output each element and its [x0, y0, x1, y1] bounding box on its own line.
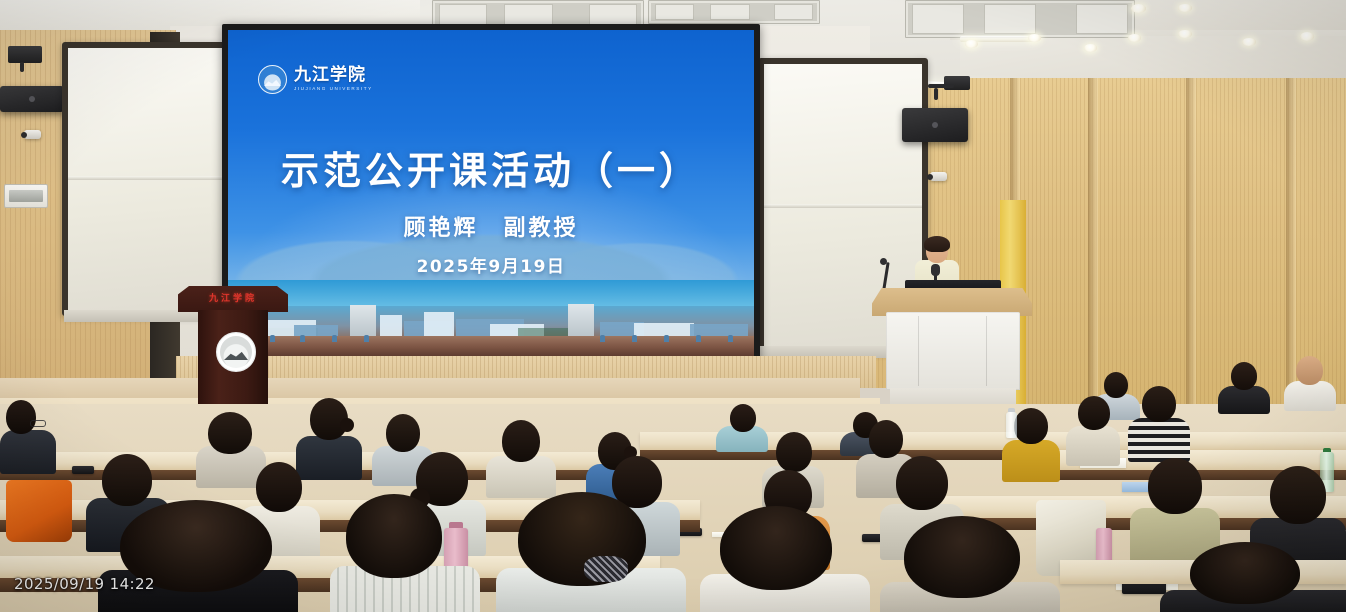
wall-camera-left — [24, 130, 41, 139]
audience-member-r2-a — [0, 400, 56, 472]
ceiling-air-vent-center — [648, 0, 820, 24]
ceiling-tilt-right — [960, 36, 1346, 82]
head — [502, 420, 540, 462]
campus-building-5 — [424, 312, 454, 336]
wall-speaker-arm-right — [928, 84, 954, 88]
audience-member-r2-j — [1066, 396, 1120, 462]
handbag-orange[interactable] — [6, 480, 72, 542]
campus-building-3 — [380, 315, 402, 336]
wall-speaker-drop-right — [934, 88, 938, 100]
head — [776, 432, 812, 472]
wall-control-panel[interactable] — [4, 184, 48, 208]
hair-scrunchie — [584, 556, 628, 582]
ceiling-downlight-3 — [1084, 44, 1097, 52]
audience-member-r2-e — [486, 420, 556, 492]
audience-member-r4-a — [98, 500, 298, 612]
podium[interactable]: 九江学院 — [178, 286, 288, 418]
ceiling-downlight-4 — [1131, 4, 1146, 13]
head — [720, 506, 832, 590]
head — [1231, 362, 1257, 390]
audience-member-r1-a — [716, 404, 768, 448]
podium-label: 九江学院 — [178, 291, 288, 304]
torso — [1218, 386, 1270, 414]
water-bottle-1[interactable] — [1006, 412, 1017, 438]
campus-trees-right — [518, 328, 568, 336]
head — [896, 456, 948, 510]
whiteboard-rail-left — [68, 176, 230, 180]
head — [1270, 466, 1326, 524]
campus-tower-left — [350, 305, 376, 338]
slide-logo-cn: 九江学院 — [294, 67, 373, 84]
ceiling-downlight-8 — [1300, 32, 1314, 41]
glasses-icon — [30, 420, 46, 427]
lecture-hall-photo: 九江学院 JIUJIANG UNIVERSITY 示范公开课活动（一） 顾艳辉 … — [0, 0, 1346, 612]
head — [208, 412, 252, 454]
head — [1104, 372, 1128, 398]
torso — [0, 430, 56, 474]
campus-plaza — [228, 336, 754, 356]
head — [904, 516, 1020, 598]
wall-column-3 — [1186, 78, 1196, 408]
ceiling-air-vent-right — [905, 0, 1135, 38]
photo-timestamp: 2025/09/19 14:22 — [14, 575, 155, 593]
head — [1148, 458, 1202, 514]
lectern-body — [886, 312, 1020, 390]
audience-member-r4-f — [1160, 542, 1346, 612]
head — [1296, 356, 1323, 385]
head — [1190, 542, 1300, 604]
university-seal-icon — [258, 65, 287, 94]
wall-speaker-right — [902, 108, 968, 142]
torso — [1002, 440, 1060, 482]
audience-member-r2-k — [1128, 386, 1190, 458]
audience-member-r4-d — [700, 506, 870, 612]
projection-screen[interactable]: 九江学院 JIUJIANG UNIVERSITY 示范公开课活动（一） 顾艳辉 … — [228, 30, 754, 356]
ceiling-downlight-2 — [1028, 34, 1041, 42]
ceiling-downlight-7 — [1242, 38, 1256, 46]
hair-bun — [340, 418, 354, 432]
slide-logo: 九江学院 JIUJIANG UNIVERSITY — [258, 65, 373, 94]
campus-sky — [228, 280, 754, 306]
head — [1142, 386, 1176, 422]
audience-member-r4-e — [880, 516, 1060, 612]
head — [869, 420, 903, 458]
campus-building-9 — [634, 323, 694, 336]
torso-striped-shirt — [1128, 418, 1190, 462]
head — [386, 414, 420, 452]
slide-campus-photo — [228, 280, 754, 356]
ceiling-downlight-1 — [965, 40, 978, 48]
slide-date: 2025年9月19日 — [228, 252, 754, 277]
torso — [1066, 426, 1120, 466]
wall-speaker-mount-left — [8, 46, 42, 63]
slide-title: 示范公开课活动（一） — [228, 140, 754, 195]
microphone-head-left — [880, 258, 887, 265]
head — [1078, 396, 1110, 430]
whiteboard-rail-right — [764, 204, 922, 208]
slide-presenter: 顾艳辉 副教授 — [228, 210, 754, 242]
whiteboard-left[interactable] — [62, 42, 236, 316]
campus-tower-right — [568, 304, 594, 338]
torso — [1284, 381, 1336, 411]
wall-camera-right — [930, 172, 947, 181]
wall-column-2 — [1088, 78, 1098, 408]
university-emblem-icon — [216, 332, 256, 372]
wall-speaker-left — [0, 86, 64, 112]
audience-member-r4-c — [496, 492, 686, 612]
wall-speaker-arm-left — [20, 62, 24, 72]
ceiling-downlight-5 — [1128, 34, 1141, 42]
audience-member-r4-b — [330, 494, 480, 612]
presenter-hair — [924, 236, 950, 252]
audience-member-r1-e — [1284, 356, 1336, 408]
slide-logo-en: JIUJIANG UNIVERSITY — [294, 87, 373, 92]
ceiling-downlight-6 — [1178, 30, 1192, 38]
head — [730, 404, 756, 432]
head — [1014, 408, 1048, 444]
audience-member-r1-d — [1218, 362, 1270, 412]
ceiling-downlight-9 — [1178, 4, 1192, 12]
head — [102, 454, 152, 506]
microphone-head-lectern — [931, 264, 940, 276]
head — [346, 494, 442, 578]
head — [6, 400, 36, 434]
